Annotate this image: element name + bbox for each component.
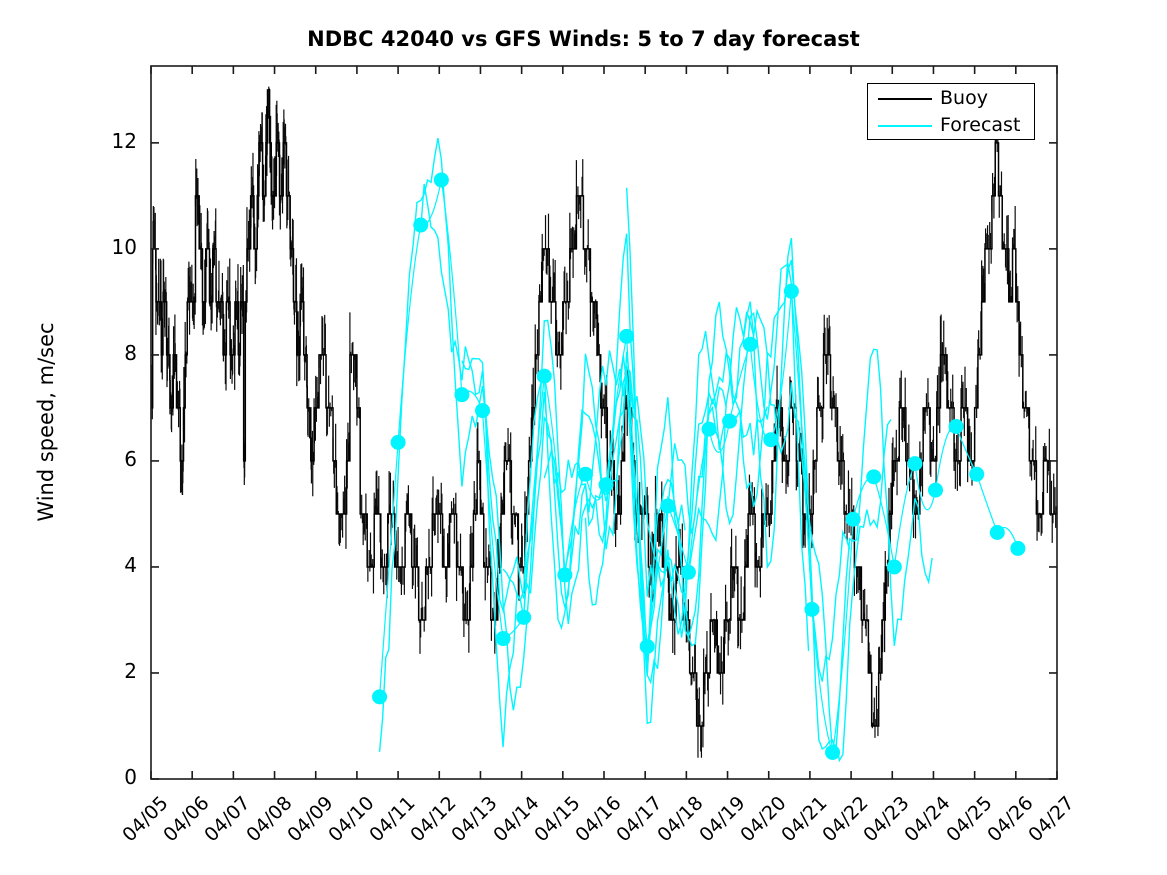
legend-swatch-buoy — [878, 98, 932, 100]
forecast-marker-0 — [372, 689, 387, 704]
forecast-marker-4 — [454, 387, 469, 402]
forecast-marker-7 — [516, 610, 531, 625]
y-tick-0: 0 — [77, 765, 137, 789]
forecast-marker-10 — [578, 467, 593, 482]
legend-label-buoy: Buoy — [940, 87, 988, 109]
y-tick-8: 8 — [77, 341, 137, 365]
legend-row-forecast: Forecast — [868, 114, 1034, 138]
forecast-marker-31 — [1010, 541, 1025, 556]
forecast-marker-12 — [619, 329, 634, 344]
forecast-marker-16 — [702, 422, 717, 437]
forecast-marker-5 — [475, 403, 490, 418]
forecast-marker-9 — [557, 567, 572, 582]
legend-row-buoy: Buoy — [868, 87, 1034, 111]
chart-legend: Buoy Forecast — [867, 83, 1035, 140]
forecast-marker-2 — [413, 218, 428, 233]
forecast-marker-30 — [990, 525, 1005, 540]
legend-swatch-forecast — [878, 125, 932, 127]
forecast-marker-29 — [969, 467, 984, 482]
forecast-marker-21 — [804, 602, 819, 617]
forecast-marker-24 — [866, 469, 881, 484]
forecast-marker-27 — [928, 483, 943, 498]
forecast-marker-18 — [743, 337, 758, 352]
forecast-marker-19 — [763, 432, 778, 447]
forecast-marker-1 — [391, 435, 406, 450]
forecast-marker-25 — [887, 559, 902, 574]
forecast-marker-17 — [722, 414, 737, 429]
forecast-marker-26 — [907, 456, 922, 471]
y-tick-4: 4 — [77, 553, 137, 577]
forecast-marker-13 — [640, 639, 655, 654]
forecast-marker-22 — [825, 745, 840, 760]
forecast-marker-3 — [434, 172, 449, 187]
forecast-marker-8 — [537, 369, 552, 384]
forecast-marker-11 — [599, 477, 614, 492]
forecast-marker-14 — [660, 498, 675, 513]
forecast-marker-15 — [681, 565, 696, 580]
forecast-marker-23 — [846, 512, 861, 527]
forecast-marker-28 — [949, 419, 964, 434]
figure-canvas: NDBC 42040 vs GFS Winds: 5 to 7 day fore… — [0, 0, 1167, 875]
forecast-marker-6 — [496, 631, 511, 646]
y-tick-2: 2 — [77, 659, 137, 683]
y-tick-6: 6 — [77, 447, 137, 471]
forecast-marker-20 — [784, 284, 799, 299]
y-tick-10: 10 — [77, 235, 137, 259]
y-tick-12: 12 — [77, 129, 137, 153]
legend-label-forecast: Forecast — [940, 114, 1020, 136]
